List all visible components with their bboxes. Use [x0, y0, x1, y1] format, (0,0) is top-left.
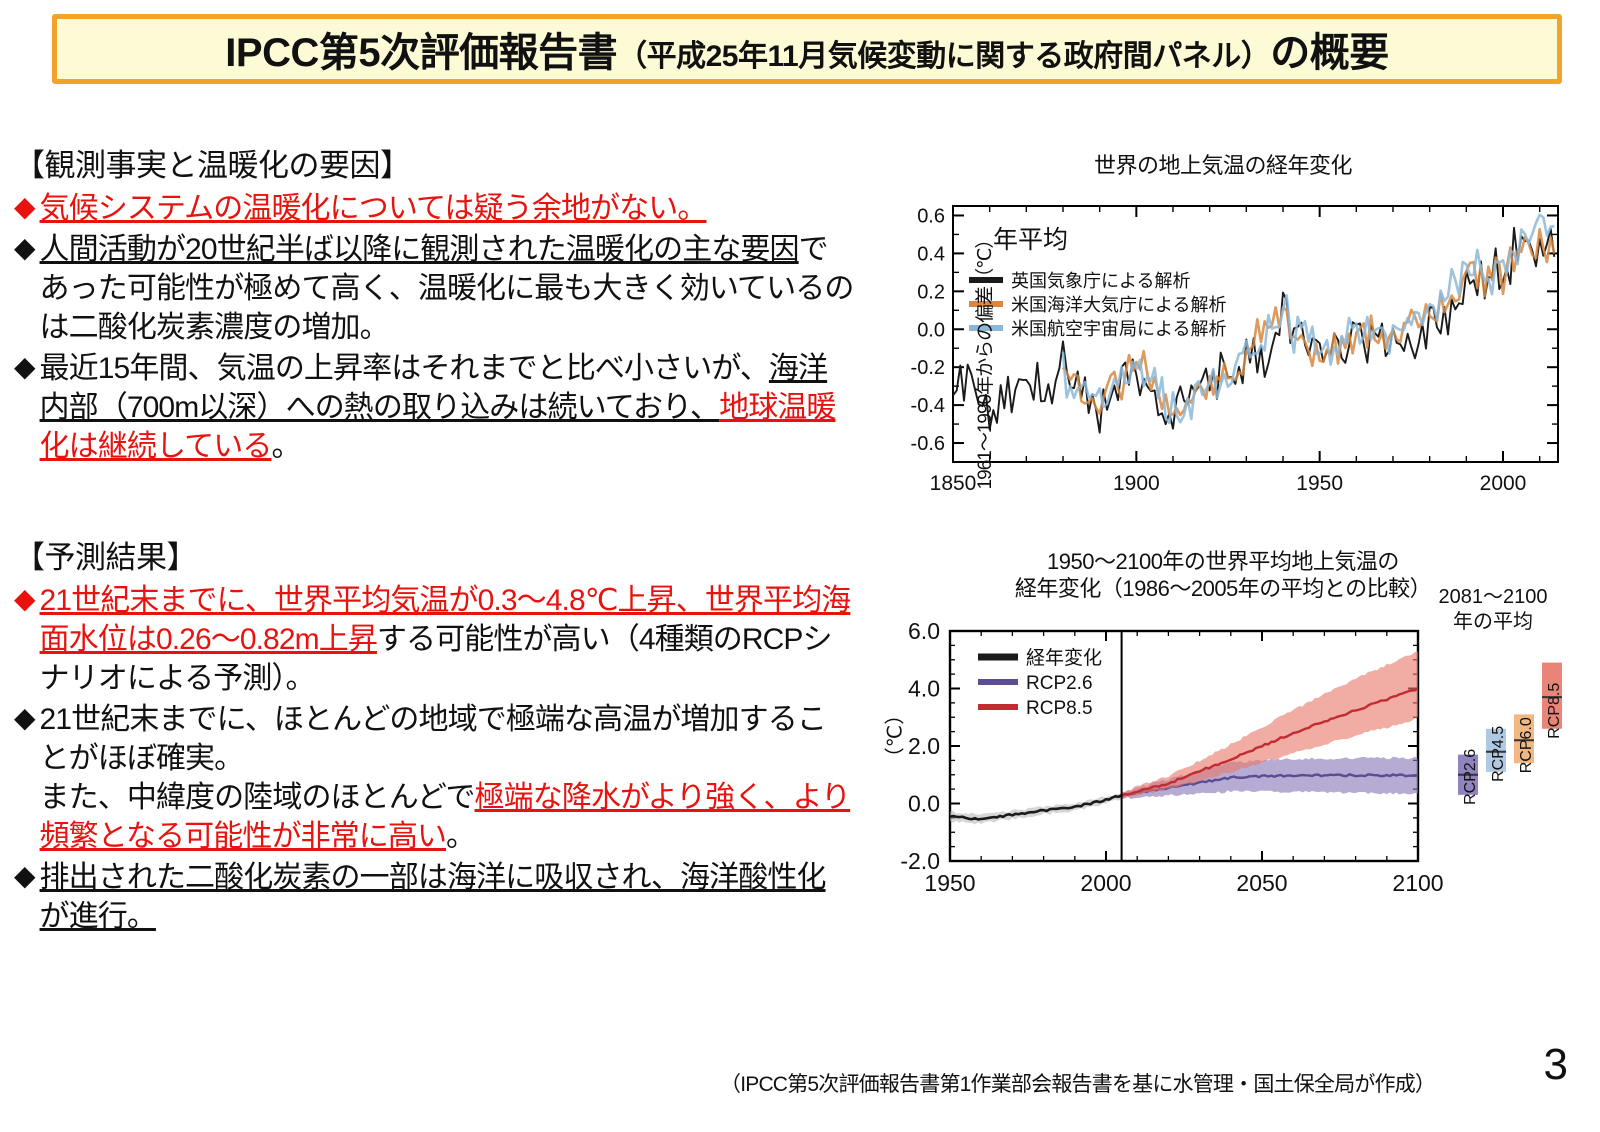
title-parenthetical: （平成25年11月気候変動に関する政府間パネル） [617, 40, 1270, 73]
bullet-text: 気候システムの温暖化については疑う余地がない。 [40, 189, 707, 228]
bullet-item: ◆21世紀末までに、ほとんどの地域で極端な高温が増加することがほぼ確実。また、中… [14, 700, 854, 856]
chart2-rcp-bar-label: RCP8.5 [1546, 682, 1563, 738]
chart2-rcp-bar-label: RCP2.6 [1462, 748, 1479, 804]
bullet-segment: 気候システムの温暖化については疑う余地がない。 [40, 192, 707, 225]
bullet-diamond-icon: ◆ [14, 858, 36, 894]
bullet-diamond-icon: ◆ [14, 700, 36, 736]
chart2-y-tick-label: 4.0 [908, 675, 940, 701]
content-right-column: 世界の地上気温の経年変化 1961〜1990年からの偏差（℃） 0.60.40.… [858, 152, 1588, 905]
page-title: IPCC第5次評価報告書（平成25年11月気候変動に関する政府間パネル）の概要 [225, 20, 1388, 78]
chart2-x-tick-label: 2000 [1080, 870, 1131, 896]
chart1-annotation: 年平均 [993, 226, 1068, 254]
bullet-diamond-icon: ◆ [14, 581, 36, 617]
bullet-item: ◆最近15年間、気温の上昇率はそれまでと比べ小さいが、海洋内部（700m以深）へ… [14, 349, 854, 466]
content-left-column: 【観測事実と温暖化の要因】 ◆気候システムの温暖化については疑う余地がない。◆人… [14, 140, 854, 938]
title-tail: の概要 [1270, 31, 1389, 75]
bullet-segment: 。 [446, 820, 475, 853]
bullet-segment: 排出された二酸化炭素の一部は海洋に吸収され、海洋酸性化が進行。 [40, 861, 826, 933]
chart1-observed-temperature: 1961〜1990年からの偏差（℃） 0.60.40.20.0-0.2-0.4-… [858, 190, 1588, 530]
chart1-y-tick-label: -0.6 [911, 433, 945, 455]
bullet-text: 21世紀末までに、世界平均気温が0.3〜4.8℃上昇、世界平均海面水位は0.26… [40, 581, 854, 698]
chart1-x-tick-label: 1950 [1296, 472, 1343, 495]
bullet-item: ◆排出された二酸化炭素の一部は海洋に吸収され、海洋酸性化が進行。 [14, 858, 854, 936]
panel-title-line2: 年の平均 [1398, 610, 1588, 635]
chart2-x-tick-label: 2100 [1392, 870, 1443, 896]
chart1-title: 世界の地上気温の経年変化 [858, 152, 1588, 180]
chart1-x-tick-label: 2000 [1480, 472, 1527, 495]
chart2-frame [950, 631, 1418, 861]
chart2-y-axis-label: （℃） [879, 705, 908, 767]
chart2-y-tick-label: 2.0 [908, 733, 940, 759]
chart1-y-tick-label: -0.4 [911, 395, 945, 417]
bullet-item: ◆気候システムの温暖化については疑う余地がない。 [14, 189, 854, 228]
chart1-plot: 0.60.40.20.0-0.2-0.4-0.61850190019502000… [858, 190, 1588, 530]
bullet-segment: 。 [271, 430, 300, 463]
chart2-title-line1: 1950〜2100年の世界平均地上気温の [858, 548, 1588, 576]
bullet-segment: 人間活動が20世紀半ば以降に観測された温暖化の主な要因 [40, 233, 799, 266]
chart1-y-tick-label: 0.4 [917, 243, 945, 265]
chart2-x-tick-label: 2050 [1236, 870, 1287, 896]
bullet-segment: 最近15年間、気温の上昇率はそれまでと比べ小さいが、 [40, 352, 769, 385]
bullet-segment: また、中緯度の陸域のほとんどで [40, 781, 475, 814]
bullet-list-observations: ◆気候システムの温暖化については疑う余地がない。◆人間活動が20世紀半ば以降に観… [14, 189, 854, 466]
bullet-diamond-icon: ◆ [14, 349, 36, 385]
panel-title-line1: 2081〜2100 [1398, 585, 1588, 610]
chart2-right-panel-title: 2081〜2100 年の平均 [1398, 585, 1588, 635]
chart2-x-tick-label: 1950 [924, 870, 975, 896]
chart1-x-tick-label: 1900 [1113, 472, 1160, 495]
page-number: 3 [1544, 1040, 1568, 1090]
chart1-legend-label: 米国海洋大気庁による解析 [1011, 295, 1226, 315]
bullet-item: ◆人間活動が20世紀半ば以降に観測された温暖化の主な要因であった可能性が極めて高… [14, 230, 854, 347]
chart1-y-tick-label: 0.6 [917, 205, 945, 227]
chart2-rcp-bar-label: RCP6.0 [1518, 717, 1535, 773]
title-main: IPCC第5次評価報告書 [225, 31, 617, 75]
chart2-y-tick-label: 0.0 [908, 790, 940, 816]
footer-source-note: （IPCC第5次評価報告書第1作業部会報告書を基に水管理・国土保全局が作成） [720, 1068, 1435, 1098]
chart1-legend-label: 英国気象庁による解析 [1011, 271, 1190, 291]
chart2-y-tick-label: 6.0 [908, 618, 940, 644]
bullet-segment: 21世紀末までに、ほとんどの地域で極端な高温が増加することがほぼ確実。 [40, 703, 826, 775]
chart1-y-tick-label: 0.2 [917, 281, 945, 303]
chart2-plot: 6.04.02.00.0-2.01950200020502100経年変化RCP2… [858, 615, 1588, 905]
bullet-text: 21世紀末までに、ほとんどの地域で極端な高温が増加することがほぼ確実。また、中緯… [40, 700, 854, 856]
bullet-diamond-icon: ◆ [14, 189, 36, 225]
chart2-projection: （℃） 2081〜2100 年の平均 6.04.02.00.0-2.019502… [858, 615, 1588, 905]
slide-root: IPCC第5次評価報告書（平成25年11月気候変動に関する政府間パネル）の概要 … [0, 0, 1600, 1132]
bullet-item: ◆21世紀末までに、世界平均気温が0.3〜4.8℃上昇、世界平均海面水位は0.2… [14, 581, 854, 698]
chart2-legend-label: RCP8.5 [1026, 698, 1093, 719]
bullet-text: 排出された二酸化炭素の一部は海洋に吸収され、海洋酸性化が進行。 [40, 858, 854, 936]
section-heading-projections: 【予測結果】 [14, 532, 854, 577]
bullet-text: 人間活動が20世紀半ば以降に観測された温暖化の主な要因であった可能性が極めて高く… [40, 230, 854, 347]
chart1-y-axis-label: 1961〜1990年からの偏差（℃） [970, 230, 997, 489]
slide-title-banner: IPCC第5次評価報告書（平成25年11月気候変動に関する政府間パネル）の概要 [52, 14, 1562, 84]
bullet-diamond-icon: ◆ [14, 230, 36, 266]
bullet-text: 最近15年間、気温の上昇率はそれまでと比べ小さいが、海洋内部（700m以深）への… [40, 349, 854, 466]
chart1-legend-label: 米国航空宇宙局による解析 [1011, 319, 1226, 339]
chart2-legend-label: 経年変化 [1026, 647, 1102, 669]
bullet-list-projections: ◆21世紀末までに、世界平均気温が0.3〜4.8℃上昇、世界平均海面水位は0.2… [14, 581, 854, 936]
chart2-rcp-bar-label: RCP4.5 [1490, 725, 1507, 781]
chart1-y-tick-label: -0.2 [911, 357, 945, 379]
section-heading-observations: 【観測事実と温暖化の要因】 [14, 140, 854, 185]
chart1-y-tick-label: 0.0 [917, 319, 945, 341]
chart2-legend-label: RCP2.6 [1026, 673, 1093, 694]
